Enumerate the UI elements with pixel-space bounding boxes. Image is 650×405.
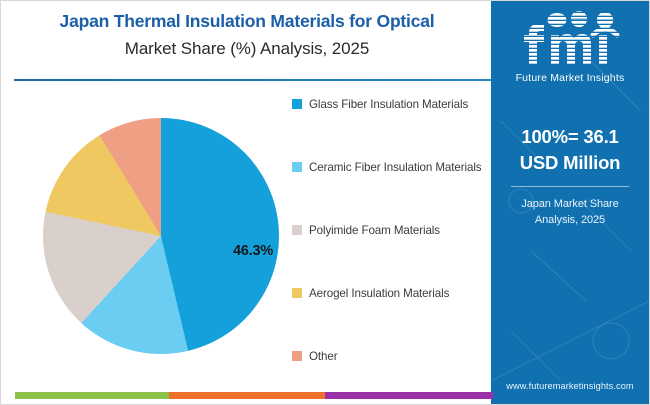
pie-chart: 46.3% [43,118,279,354]
legend-swatch-icon [292,351,302,361]
pie-data-label-largest: 46.3% [213,243,293,259]
legend-item[interactable]: Aerogel Insulation Materials [292,286,449,302]
legend-item[interactable]: Ceramic Fiber Insulation Materials [292,160,482,176]
stat-block: 100%= 36.1 USD Million Japan Market Shar… [491,124,649,228]
page-title-line-2: Market Share (%) Analysis, 2025 [1,37,493,61]
chart-header: Japan Thermal Insulation Materials for O… [1,1,493,81]
chart-infographic: Japan Thermal Insulation Materials for O… [0,0,650,405]
legend-item[interactable]: Glass Fiber Insulation Materials [292,97,468,113]
legend-item-label: Ceramic Fiber Insulation Materials [309,160,482,176]
legend-swatch-icon [292,162,302,172]
accent-bar-segment-orange [169,392,325,399]
stat-caption-line-1: Japan Market Share [491,196,649,212]
brand-website-url[interactable]: www.futuremarketinsights.com [491,381,649,391]
accent-bar [15,392,493,399]
fmi-logo: Future Market Insights [491,9,649,84]
brand-panel: Future Market Insights 100%= 36.1 USD Mi… [491,1,649,405]
accent-bar-segment-purple [325,392,493,399]
accent-bar-segment-green [15,392,169,399]
legend-item-label: Other [309,349,338,365]
legend-item[interactable]: Other [292,349,338,365]
fmi-tagline: Future Market Insights [491,72,649,84]
legend-swatch-icon [292,288,302,298]
legend-item-label: Aerogel Insulation Materials [309,286,449,302]
stat-value-line-2: USD Million [491,150,649,176]
stat-divider [511,186,629,187]
pie-slices[interactable] [43,118,279,354]
legend-item[interactable]: Polyimide Foam Materials [292,223,440,239]
fmi-logo-icon [507,9,633,71]
legend-swatch-icon [292,225,302,235]
stat-value-line-1: 100%= 36.1 [491,124,649,150]
stat-caption-line-2: Analysis, 2025 [491,212,649,228]
chart-area: 46.3% Glass Fiber Insulation MaterialsCe… [1,81,493,386]
legend-item-label: Polyimide Foam Materials [309,223,440,239]
page-title-line-1: Japan Thermal Insulation Materials for O… [1,9,493,33]
legend-item-label: Glass Fiber Insulation Materials [309,97,468,113]
legend-swatch-icon [292,99,302,109]
